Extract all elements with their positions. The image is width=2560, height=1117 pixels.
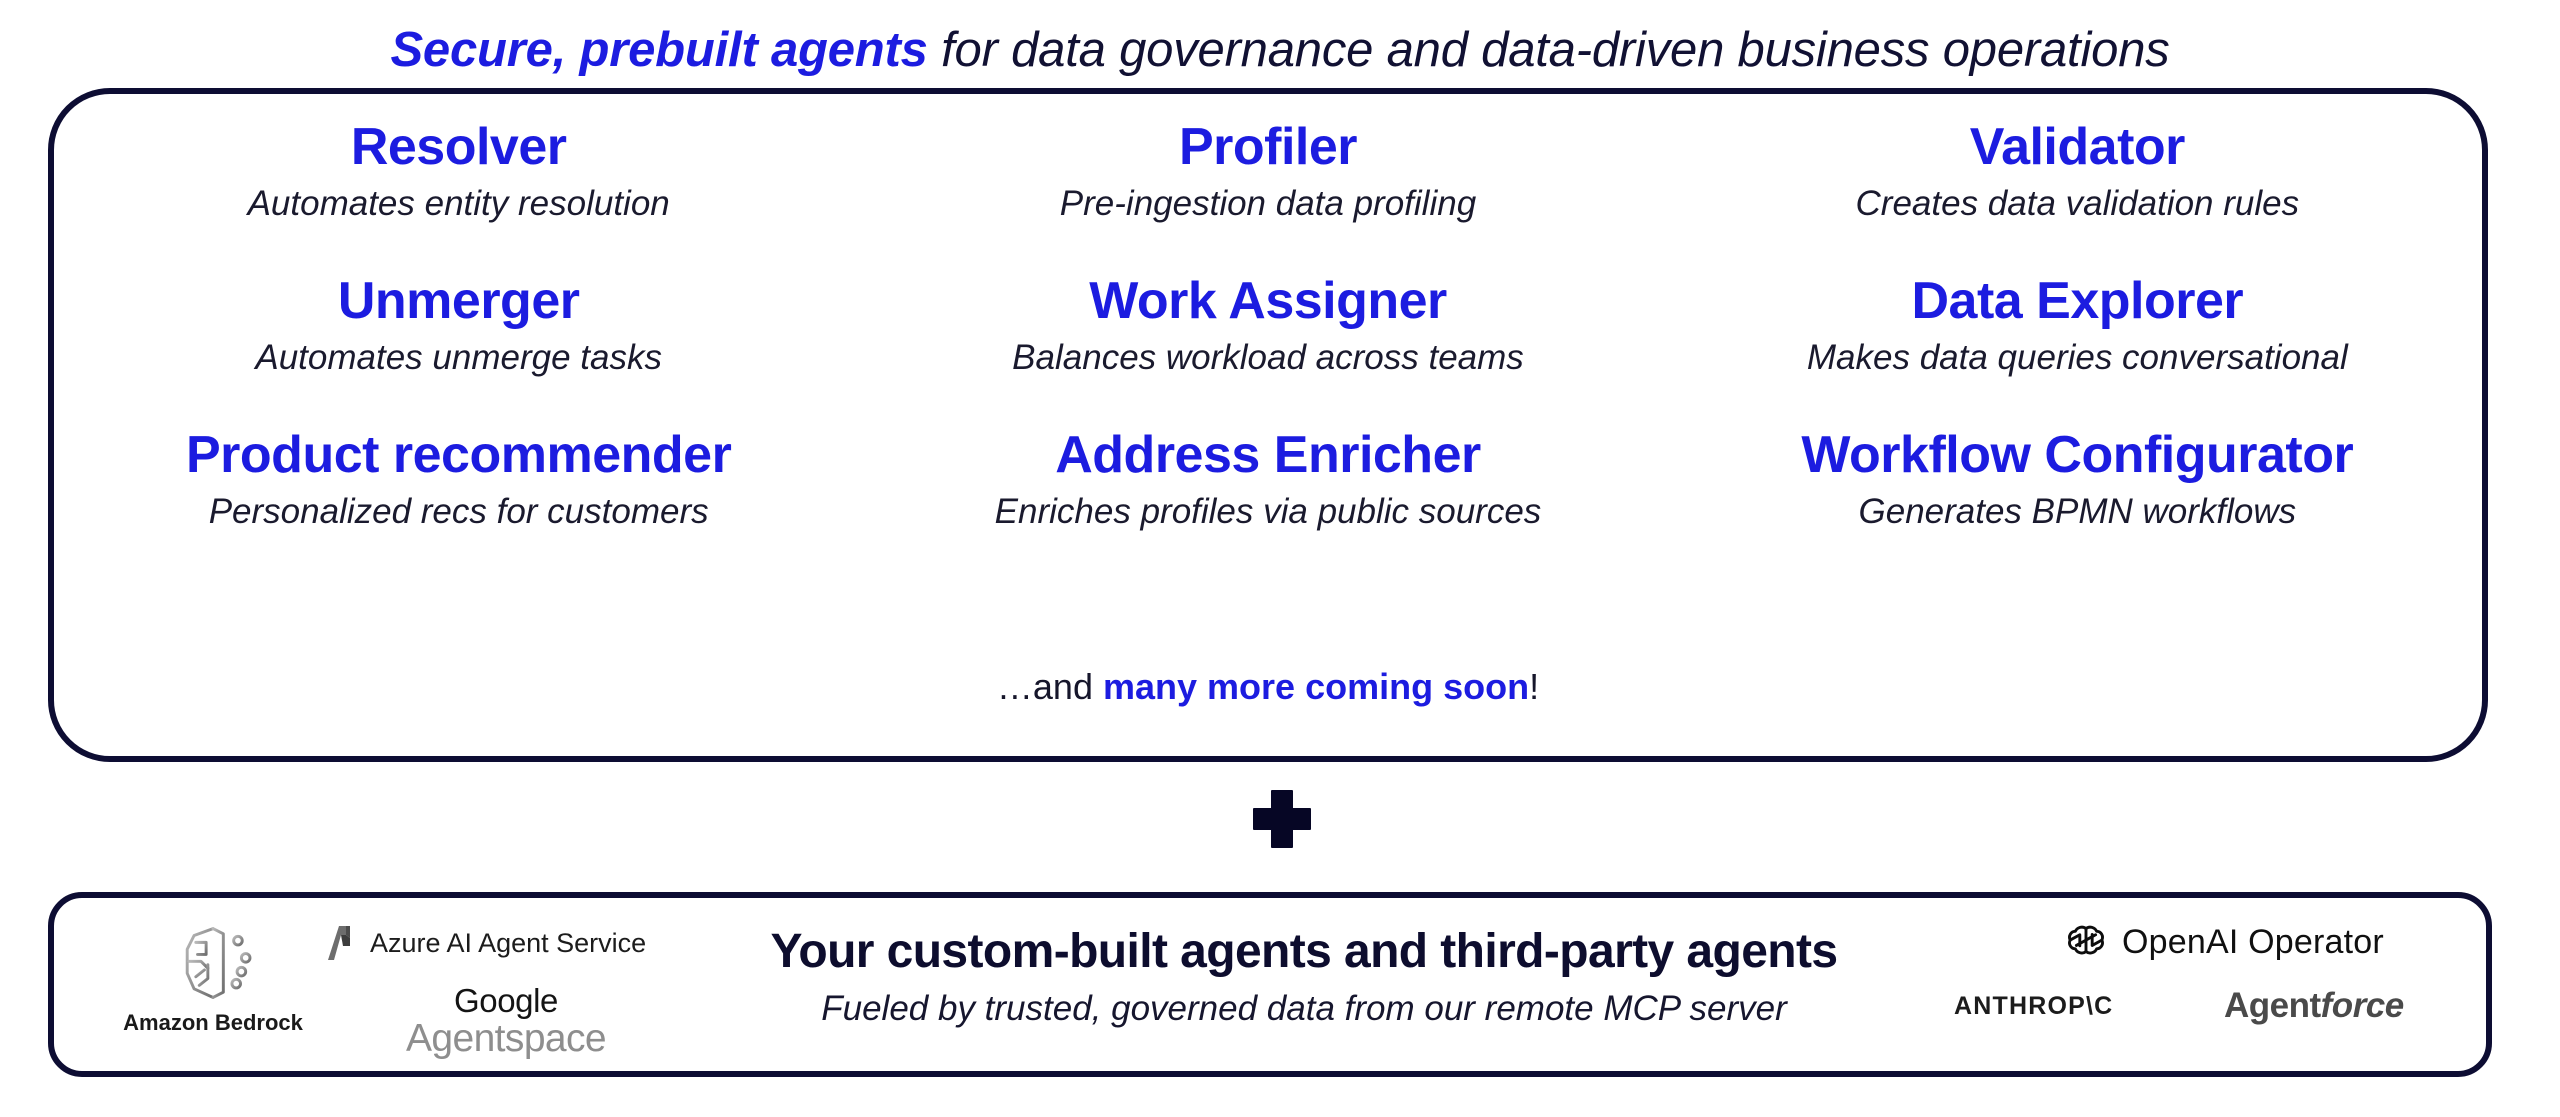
agent-card-work-assigner[interactable]: Work Assigner Balances workload across t… — [863, 272, 1672, 380]
logo-amazon-bedrock: Amazon Bedrock — [118, 920, 308, 1036]
logo-openai-operator: OpenAI Operator — [2064, 920, 2384, 964]
partners-title: Your custom-built agents and third-party… — [714, 924, 1894, 979]
agent-name: Product recommender — [74, 426, 843, 484]
agent-description: Generates BPMN workflows — [1693, 490, 2462, 534]
agent-description: Makes data queries conversational — [1693, 336, 2462, 380]
third-party-agents-panel: Amazon Bedrock Azure AI Agent Service Go… — [48, 892, 2492, 1077]
agent-description: Balances workload across teams — [883, 336, 1652, 380]
coming-soon-note: …and many more coming soon! — [54, 666, 2482, 708]
openai-flower-icon — [2064, 920, 2108, 964]
azure-logo-icon — [322, 922, 360, 964]
page-headline: Secure, prebuilt agents for data governa… — [0, 22, 2560, 78]
plus-icon-vertical-bar — [1271, 790, 1293, 848]
coming-soon-suffix: ! — [1529, 666, 1539, 707]
agent-card-product-recommender[interactable]: Product recommender Personalized recs fo… — [54, 426, 863, 534]
coming-soon-emphasis: many more coming soon — [1103, 666, 1529, 707]
logo-label-google: Google — [376, 984, 636, 1019]
logo-google-agentspace: Google Agentspace — [376, 984, 636, 1058]
partners-center-text: Your custom-built agents and third-party… — [714, 924, 1894, 1029]
agent-name: Profiler — [883, 118, 1652, 176]
headline-emphasis: Secure, prebuilt agents — [390, 23, 927, 77]
amazon-bedrock-brain-circuit-icon — [170, 920, 256, 1006]
agent-description: Personalized recs for customers — [74, 490, 843, 534]
agent-card-resolver[interactable]: Resolver Automates entity resolution — [54, 118, 863, 226]
plus-icon — [1253, 790, 1311, 848]
agent-description: Enriches profiles via public sources — [883, 490, 1652, 534]
agent-name: Workflow Configurator — [1693, 426, 2462, 484]
logo-label-anthropic: ANTHROP\C — [1954, 992, 2113, 1021]
agent-name: Work Assigner — [883, 272, 1652, 330]
agent-card-unmerger[interactable]: Unmerger Automates unmerge tasks — [54, 272, 863, 380]
agent-description: Creates data validation rules — [1693, 182, 2462, 226]
logo-label-azure: Azure AI Agent Service — [370, 928, 646, 959]
agent-card-workflow-configurator[interactable]: Workflow Configurator Generates BPMN wor… — [1673, 426, 2482, 534]
agent-card-data-explorer[interactable]: Data Explorer Makes data queries convers… — [1673, 272, 2482, 380]
agent-card-profiler[interactable]: Profiler Pre-ingestion data profiling — [863, 118, 1672, 226]
agents-grid: Resolver Automates entity resolution Pro… — [54, 118, 2482, 534]
logo-label-amazon-bedrock: Amazon Bedrock — [118, 1010, 308, 1036]
headline-rest: for data governance and data-driven busi… — [928, 23, 2170, 77]
agent-name: Resolver — [74, 118, 843, 176]
agent-description: Automates unmerge tasks — [74, 336, 843, 380]
logo-label-agentforce: Agentforce — [2224, 986, 2404, 1026]
partner-logos-right: OpenAI Operator ANTHROP\C Agentforce — [1954, 898, 2494, 1071]
partner-logos-left: Amazon Bedrock Azure AI Agent Service Go… — [100, 898, 720, 1071]
prebuilt-agents-panel: Resolver Automates entity resolution Pro… — [48, 88, 2488, 762]
agent-name: Unmerger — [74, 272, 843, 330]
agentforce-italic: force — [2321, 986, 2404, 1025]
agent-name: Data Explorer — [1693, 272, 2462, 330]
partners-subtitle: Fueled by trusted, governed data from ou… — [714, 989, 1894, 1029]
agent-card-validator[interactable]: Validator Creates data validation rules — [1673, 118, 2482, 226]
coming-soon-prefix: …and — [997, 666, 1103, 707]
agent-description: Automates entity resolution — [74, 182, 843, 226]
logo-label-agentspace: Agentspace — [376, 1019, 636, 1058]
agent-card-address-enricher[interactable]: Address Enricher Enriches profiles via p… — [863, 426, 1672, 534]
agent-name: Address Enricher — [883, 426, 1652, 484]
logo-azure-ai-agent-service: Azure AI Agent Service — [322, 922, 646, 964]
agent-name: Validator — [1693, 118, 2462, 176]
agentforce-prefix: Agent — [2224, 986, 2321, 1025]
logo-label-openai-operator: OpenAI Operator — [2122, 923, 2384, 962]
agent-description: Pre-ingestion data profiling — [883, 182, 1652, 226]
